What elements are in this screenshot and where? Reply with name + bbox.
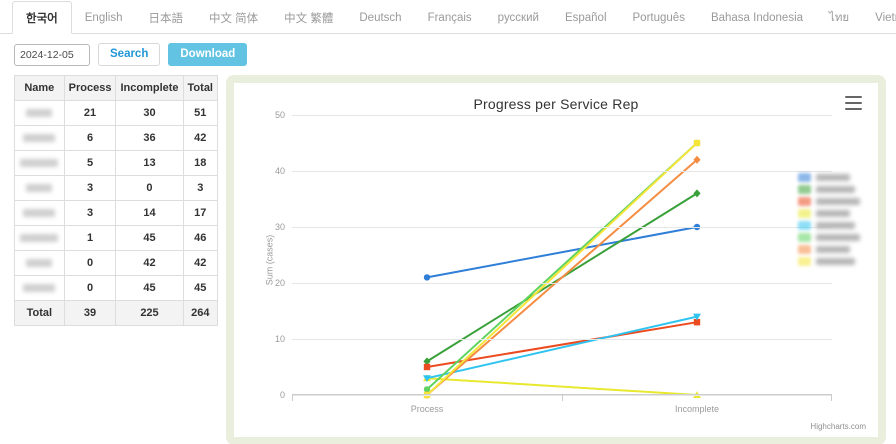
cell-total: 17	[183, 201, 217, 226]
language-tab-12[interactable]: Vietnam	[862, 1, 896, 34]
series-4[interactable]	[423, 314, 701, 382]
cell-total: 18	[183, 151, 217, 176]
table-row[interactable]: 04242	[15, 251, 218, 276]
table-row[interactable]: 31417	[15, 201, 218, 226]
y-axis-tick-label: 0	[280, 390, 285, 400]
language-tab-3[interactable]: 中文 简体	[196, 1, 271, 34]
chart-legend	[798, 173, 860, 266]
legend-swatch	[798, 233, 811, 242]
language-tab-2[interactable]: 日本語	[135, 1, 196, 34]
cell-process: 5	[64, 151, 116, 176]
series-line	[427, 378, 697, 395]
y-axis-tick-label: 50	[275, 110, 285, 120]
x-axis-tick-label: Process	[411, 404, 444, 414]
language-tab-10[interactable]: Bahasa Indonesia	[698, 1, 816, 34]
chart-container: Progress per Service Rep Sum (cases) 010…	[234, 83, 878, 437]
language-tab-8[interactable]: Español	[552, 1, 620, 34]
total-cell-total: 264	[183, 301, 217, 326]
chart-title: Progress per Service Rep	[234, 83, 878, 112]
legend-swatch	[798, 197, 811, 206]
y-gridline	[292, 171, 832, 172]
cell-total: 46	[183, 226, 217, 251]
redacted-name	[23, 284, 55, 292]
table-row[interactable]: 213051	[15, 101, 218, 126]
total-cell-incomplete: 225	[116, 301, 183, 326]
cell-incomplete: 45	[116, 276, 183, 301]
legend-swatch	[798, 173, 811, 182]
cell-process: 21	[64, 101, 116, 126]
cell-incomplete: 30	[116, 101, 183, 126]
table-header-row: NameProcessIncompleteTotal	[15, 76, 218, 101]
rep-name-cell	[15, 276, 65, 301]
x-axis-tick-mark	[562, 395, 563, 401]
x-axis-tick-mark	[831, 395, 832, 401]
download-button[interactable]: Download	[168, 43, 247, 66]
page-body: NameProcessIncompleteTotal 2130516364251…	[0, 75, 896, 444]
series-line	[427, 160, 697, 395]
redacted-name	[26, 184, 52, 192]
y-gridline	[292, 115, 832, 116]
y-gridline	[292, 339, 832, 340]
rep-name-cell	[15, 201, 65, 226]
table-row[interactable]: 303	[15, 176, 218, 201]
legend-item-6[interactable]	[798, 245, 860, 254]
hamburger-menu-icon[interactable]	[845, 96, 862, 110]
cell-incomplete: 14	[116, 201, 183, 226]
legend-item-4[interactable]	[798, 221, 860, 230]
legend-swatch	[798, 221, 811, 230]
rep-name-cell	[15, 251, 65, 276]
legend-label-redacted	[816, 246, 850, 253]
language-tab-6[interactable]: Français	[415, 1, 485, 34]
legend-item-2[interactable]	[798, 197, 860, 206]
y-axis-title: Sum (cases)	[264, 235, 274, 286]
legend-swatch	[798, 209, 811, 218]
series-6[interactable]	[423, 156, 700, 399]
language-tab-bar: 한국어English日本語中文 简体中文 繁體DeutschFrançaisру…	[0, 0, 896, 34]
legend-swatch	[798, 257, 811, 266]
cell-incomplete: 13	[116, 151, 183, 176]
legend-label-redacted	[816, 222, 855, 229]
rep-name-cell	[15, 101, 65, 126]
language-tab-9[interactable]: Português	[620, 1, 698, 34]
series-marker	[693, 189, 700, 197]
table-body: 213051636425131830331417145460424204545T…	[15, 101, 218, 326]
x-axis-tick-label: Incomplete	[675, 404, 719, 414]
table-total-row: Total39225264	[15, 301, 218, 326]
legend-item-3[interactable]	[798, 209, 860, 218]
language-tab-1[interactable]: English	[72, 1, 136, 34]
legend-label-redacted	[816, 234, 860, 241]
cell-process: 6	[64, 126, 116, 151]
redacted-name	[26, 259, 52, 267]
cell-process: 3	[64, 176, 116, 201]
cell-incomplete: 45	[116, 226, 183, 251]
table-row[interactable]: 51318	[15, 151, 218, 176]
cell-incomplete: 0	[116, 176, 183, 201]
rep-name-cell	[15, 226, 65, 251]
date-input[interactable]	[14, 44, 90, 66]
series-marker	[424, 274, 430, 280]
table-head: NameProcessIncompleteTotal	[15, 76, 218, 101]
table-row[interactable]: 63642	[15, 126, 218, 151]
language-tab-0[interactable]: 한국어	[12, 1, 72, 34]
legend-swatch	[798, 185, 811, 194]
cell-total: 51	[183, 101, 217, 126]
cell-process: 0	[64, 276, 116, 301]
table-column-header: Name	[15, 76, 65, 101]
legend-item-7[interactable]	[798, 257, 860, 266]
cell-process: 0	[64, 251, 116, 276]
language-tab-4[interactable]: 中文 繁體	[271, 1, 346, 34]
cell-process: 1	[64, 226, 116, 251]
x-axis-tick-mark	[292, 395, 293, 401]
total-cell-process: 39	[64, 301, 116, 326]
series-marker	[694, 140, 700, 146]
language-tab-7[interactable]: русский	[485, 1, 552, 34]
highcharts-credits: Highcharts.com	[810, 422, 866, 431]
language-tab-5[interactable]: Deutsch	[346, 1, 414, 34]
language-tab-11[interactable]: ไทย	[816, 1, 862, 34]
redacted-name	[23, 209, 55, 217]
legend-label-redacted	[816, 210, 850, 217]
redacted-name	[23, 134, 55, 142]
y-axis-tick-label: 30	[275, 222, 285, 232]
cell-total: 42	[183, 126, 217, 151]
legend-swatch	[798, 245, 811, 254]
cell-incomplete: 36	[116, 126, 183, 151]
rep-name-cell	[15, 176, 65, 201]
search-button[interactable]: Search	[98, 43, 160, 66]
series-marker	[424, 364, 430, 370]
plot-area: 01020304050ProcessIncomplete	[292, 115, 832, 395]
table-row[interactable]: 04545	[15, 276, 218, 301]
legend-item-0[interactable]	[798, 173, 860, 182]
series-lines	[292, 115, 832, 395]
cell-incomplete: 42	[116, 251, 183, 276]
table-column-header: Total	[183, 76, 217, 101]
y-axis-tick-label: 40	[275, 166, 285, 176]
legend-label-redacted	[816, 198, 860, 205]
table-row[interactable]: 14546	[15, 226, 218, 251]
y-axis-tick-label: 20	[275, 278, 285, 288]
y-gridline	[292, 227, 832, 228]
series-0[interactable]	[424, 224, 700, 281]
legend-label-redacted	[816, 258, 855, 265]
cell-total: 42	[183, 251, 217, 276]
controls-toolbar: Search Download	[0, 34, 896, 75]
cell-total: 45	[183, 276, 217, 301]
series-line	[427, 317, 697, 379]
rep-name-cell	[15, 151, 65, 176]
redacted-name	[20, 159, 58, 167]
legend-item-1[interactable]	[798, 185, 860, 194]
series-7[interactable]	[424, 140, 700, 398]
cell-process: 3	[64, 201, 116, 226]
legend-label-redacted	[816, 174, 850, 181]
chart-frame: Progress per Service Rep Sum (cases) 010…	[226, 75, 886, 444]
y-gridline	[292, 283, 832, 284]
table-column-header: Incomplete	[116, 76, 183, 101]
table-column-header: Process	[64, 76, 116, 101]
rep-name-cell	[15, 126, 65, 151]
legend-label-redacted	[816, 186, 855, 193]
total-cell-name: Total	[15, 301, 65, 326]
service-rep-table: NameProcessIncompleteTotal 2130516364251…	[14, 75, 218, 326]
legend-item-5[interactable]	[798, 233, 860, 242]
redacted-name	[20, 234, 58, 242]
redacted-name	[26, 109, 52, 117]
cell-total: 3	[183, 176, 217, 201]
y-axis-tick-label: 10	[275, 334, 285, 344]
